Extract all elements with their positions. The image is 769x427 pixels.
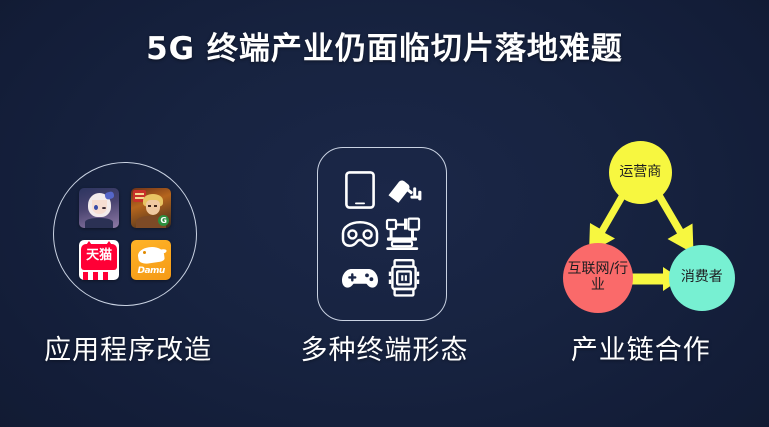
game-controller-icon[interactable] [339, 264, 381, 292]
slide-root: 5G 终端产业仍面临切片落地难题 [0, 0, 769, 427]
anime-hair-bow [104, 191, 115, 200]
panel-container: G 天猫 Damu [0, 140, 769, 390]
node-internet-industry[interactable]: 互联网/行业 [563, 243, 633, 313]
caption-industry-chain: 产业链合作 [571, 328, 711, 367]
moba-hero-game-icon[interactable]: G [131, 188, 171, 228]
app-circle-outline: G 天猫 Damu [53, 162, 197, 306]
node-operator-label: 运营商 [615, 165, 665, 181]
game-hero-face [146, 200, 160, 215]
arrow-operator-to-consumer [655, 192, 694, 254]
node-consumer[interactable]: 消费者 [669, 245, 735, 311]
node-internet-industry-label: 互联网/行业 [563, 262, 633, 293]
panel-terminal-forms: 多种终端形态 [256, 140, 512, 390]
smartwatch-icon[interactable] [387, 258, 421, 298]
anime-body-shape [85, 218, 113, 228]
tmall-icon[interactable]: 天猫 [79, 240, 119, 280]
triangle-diagram-graphic: 运营商 互联网/行业 消费者 [513, 140, 769, 328]
orange-app-label: Damu [131, 266, 171, 276]
game-hero-eyes [148, 205, 151, 207]
panel-app-transformation: G 天猫 Damu [0, 140, 256, 390]
app-circle-graphic: G 天猫 Damu [0, 140, 256, 328]
tablet-icon[interactable] [345, 171, 375, 209]
device-rect-graphic [256, 140, 512, 328]
node-operator[interactable]: 运营商 [609, 141, 672, 204]
caption-app-transformation: 应用程序改造 [44, 328, 212, 367]
device-icon-grid [338, 168, 426, 300]
security-camera-icon[interactable] [384, 174, 424, 206]
node-consumer-label: 消费者 [677, 270, 727, 286]
industrial-robot-icon[interactable] [384, 216, 424, 252]
anime-rpg-game-icon[interactable] [79, 188, 119, 228]
orange-bird-app-icon[interactable]: Damu [131, 240, 171, 280]
caption-terminal-forms: 多种终端形态 [300, 328, 468, 367]
tmall-label: 天猫 [79, 249, 119, 262]
panel-industry-chain: 运营商 互联网/行业 消费者 产业链合作 [513, 140, 769, 390]
bird-shape [137, 245, 165, 264]
app-icon-grid: G 天猫 Damu [79, 188, 171, 280]
device-rect-outline [317, 147, 447, 321]
tencent-games-logo: G [158, 215, 169, 226]
page-title: 5G 终端产业仍面临切片落地难题 [0, 30, 769, 69]
tmall-legs [83, 272, 115, 280]
vr-goggles-icon[interactable] [340, 219, 380, 249]
triangle-diagram: 运营商 互联网/行业 消费者 [541, 137, 741, 323]
